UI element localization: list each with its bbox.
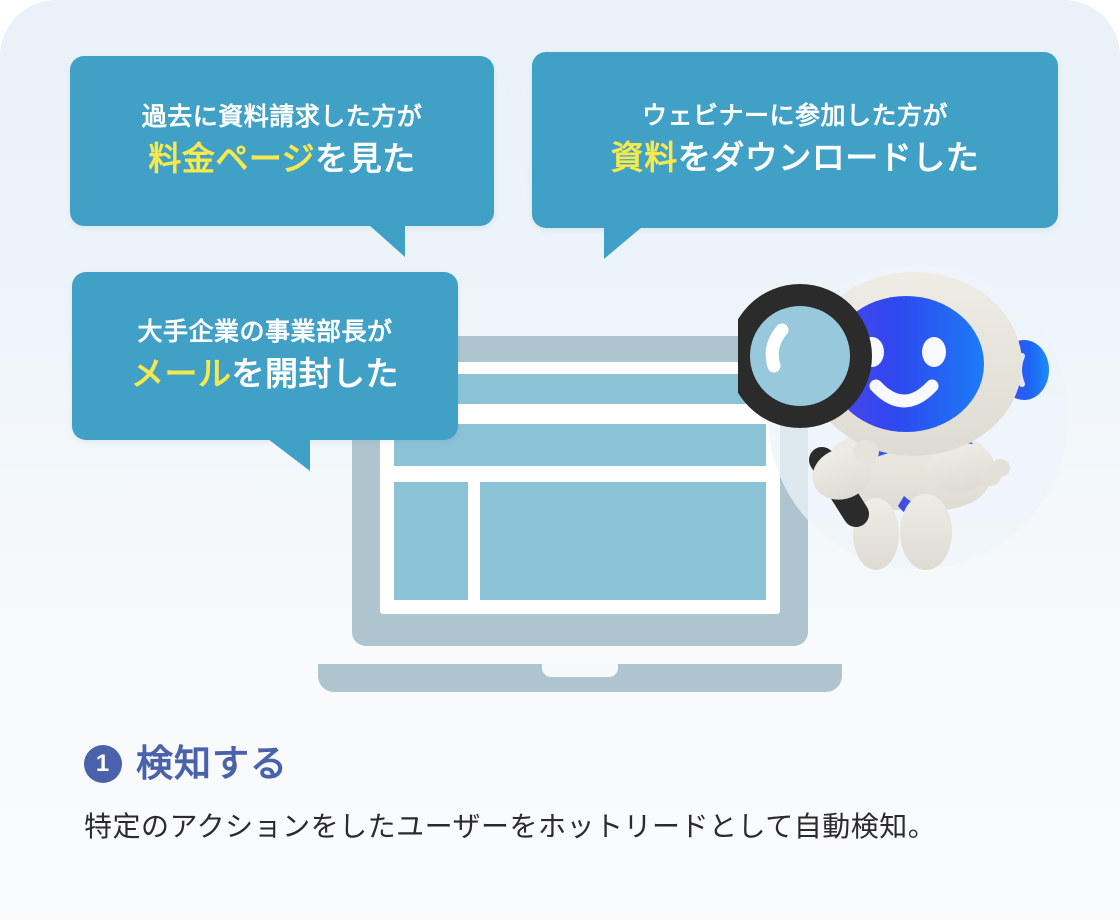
bubble-highlight: 資料 (611, 139, 678, 176)
laptop-base (318, 664, 842, 692)
bubble-mail-opened[interactable]: 大手企業の事業部長が メールを開封した (72, 272, 458, 440)
bubble-tail-1 (369, 225, 405, 257)
bubble-line-1: 過去に資料請求した方が (142, 103, 423, 132)
step-number-badge: 1 (84, 745, 122, 783)
step-heading-text: 検知する (136, 744, 288, 785)
bubble-line-2: 料金ページを見た (148, 139, 415, 179)
bubble-highlight: メール (131, 355, 232, 392)
bubble-pricing-page[interactable]: 過去に資料請求した方が 料金ページを見た (70, 56, 494, 226)
bubble-line-2: 資料をダウンロードした (611, 138, 980, 178)
step-heading: 1 検知する (84, 744, 1064, 785)
bubble-highlight: 料金ページ (148, 140, 315, 177)
screen-block-big (480, 482, 766, 600)
bubble-line-1: ウェビナーに参加した方が (642, 102, 948, 131)
laptop-notch (542, 664, 618, 677)
step-description: 特定のアクションをしたユーザーをホットリードとして自動検知。 (84, 807, 1064, 846)
bubble-line-2: メールを開封した (131, 354, 399, 394)
bubble-rest: を開封した (232, 355, 400, 392)
slide-canvas: 過去に資料請求した方が 料金ページを見た ウェビナーに参加した方が 資料をダウン… (0, 0, 1120, 920)
bubble-rest: を見た (315, 140, 416, 177)
illustration-area: 過去に資料請求した方が 料金ページを見た ウェビナーに参加した方が 資料をダウン… (0, 0, 1120, 730)
robot-mascot (738, 252, 1068, 572)
bubble-rest: をダウンロードした (678, 139, 980, 176)
bubble-tail-3 (268, 439, 310, 471)
bubble-tail-2 (604, 227, 642, 259)
bubble-line-1: 大手企業の事業部長が (137, 318, 392, 347)
bubble-webinar-download[interactable]: ウェビナーに参加した方が 資料をダウンロードした (532, 52, 1058, 228)
caption-block: 1 検知する 特定のアクションをしたユーザーをホットリードとして自動検知。 (84, 744, 1064, 846)
screen-block-small (394, 482, 468, 600)
